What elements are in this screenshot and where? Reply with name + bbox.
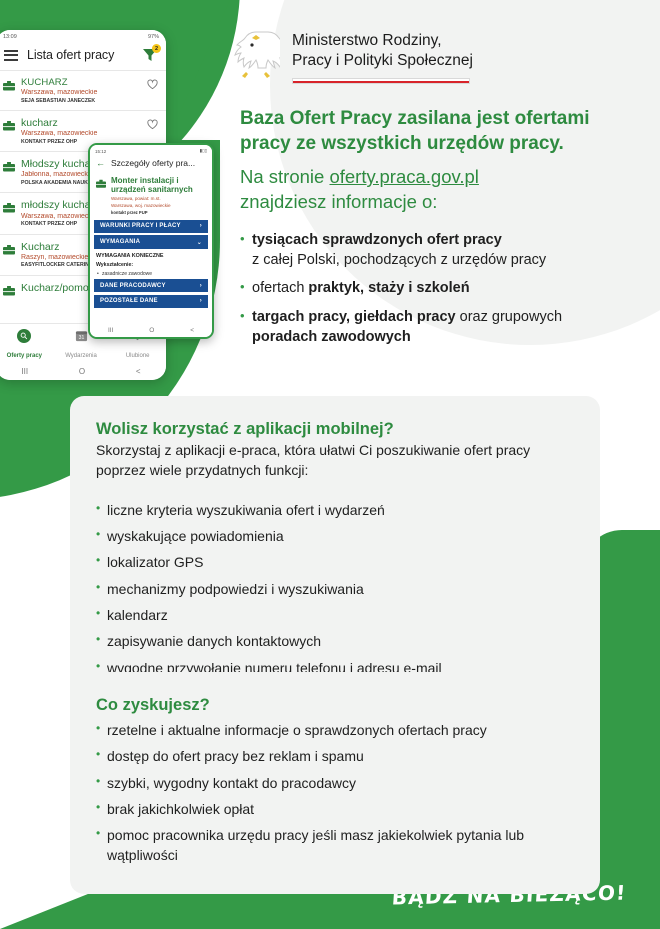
detail-app-bar: ← Szczegóły oferty pra... bbox=[90, 155, 212, 173]
intro-bullet-1-rest: z całej Polski, pochodzących z urzędów p… bbox=[252, 252, 546, 268]
offer-title: Monter instalacji i urządzeń sanitarnych bbox=[111, 176, 206, 194]
job-location: Warszawa, mazowieckie bbox=[21, 130, 141, 137]
intro-heading: Baza Ofert Pracy zasilana jest ofertami … bbox=[240, 106, 640, 156]
requirements-section-title: WYMAGANIA KONIECZNE bbox=[90, 249, 212, 259]
list-item: lokalizator GPS bbox=[96, 553, 574, 572]
accordion-label: WYMAGANIA bbox=[100, 239, 140, 245]
accordion-label: POZOSTAŁE DANE bbox=[100, 298, 158, 304]
mobile-feature-list: liczne kryteria wyszukiwania ofert i wyd… bbox=[96, 501, 574, 678]
accordion-dane-pracodawcy[interactable]: DANE PRACODAWCY › bbox=[94, 279, 208, 292]
accordion-label: WARUNKI PRACY I PŁACY bbox=[100, 223, 181, 229]
list-item: liczne kryteria wyszukiwania ofert i wyd… bbox=[96, 501, 574, 520]
intro-sub-suffix: znajdziesz informacje o: bbox=[240, 191, 437, 212]
intro-bullet-list: tysiącach sprawdzonych ofert pracy z cał… bbox=[240, 231, 640, 347]
briefcase-icon bbox=[3, 243, 15, 269]
list-item: rzetelne i aktualne informacje o sprawdz… bbox=[96, 721, 574, 740]
accordion-warunki-pracy-i-placy[interactable]: WARUNKI PRACY I PŁACY › bbox=[94, 220, 208, 233]
intro-bullet-2-bold: praktyk, staży i szkoleń bbox=[308, 280, 469, 296]
list-item: dostęp do ofert pracy bez reklam i spamu bbox=[96, 747, 574, 766]
home-button[interactable]: O bbox=[149, 327, 154, 334]
oferty-praca-gov-pl-link[interactable]: oferty.praca.gov.pl bbox=[329, 166, 478, 187]
back-arrow-icon[interactable]: ← bbox=[96, 158, 105, 168]
sidebar-item-label: Oferty pracy bbox=[7, 353, 42, 359]
phone-mockup-offer-detail: 15:12 ▮▯▯ ← Szczegóły oferty pra... Mont… bbox=[88, 143, 214, 339]
benefits-list: rzetelne i aktualne informacje o sprawdz… bbox=[96, 721, 574, 865]
intro-bullet-1: tysiącach sprawdzonych ofert pracy z cał… bbox=[240, 231, 640, 270]
intro-sub-prefix: Na stronie bbox=[240, 166, 329, 187]
app-bar: Lista ofert pracy 2 bbox=[0, 42, 166, 70]
heart-icon[interactable] bbox=[147, 77, 158, 104]
education-label: Wykształcenie: bbox=[90, 259, 212, 268]
ministry-name-line-2: Pracy i Polityki Społecznej bbox=[292, 51, 473, 71]
ministry-header: Ministerstwo Rodziny, Pracy i Polityki S… bbox=[232, 28, 473, 84]
phone-status-bar: 13:09 97% bbox=[0, 30, 166, 42]
list-item: mechanizmy podpowiedzi i wyszukiwania bbox=[96, 580, 574, 599]
android-system-bar: III O < bbox=[90, 323, 212, 337]
accordion-pozostale-dane[interactable]: POZOSTAŁE DANE › bbox=[94, 295, 208, 308]
ministry-name-line-1: Ministerstwo Rodziny, bbox=[292, 31, 473, 51]
intro-bullet-3-rest: poradach zawodowych bbox=[252, 329, 411, 345]
sidebar-item-label: Wydarzenia bbox=[65, 353, 97, 359]
recents-button[interactable]: III bbox=[21, 367, 28, 376]
status-bar-time: 13:09 bbox=[3, 34, 17, 40]
intro-bullet-3-bold: targach pracy, giełdach pracy bbox=[252, 309, 456, 325]
polish-flag-line bbox=[292, 78, 470, 84]
back-button[interactable]: < bbox=[136, 367, 141, 376]
hamburger-menu-icon[interactable] bbox=[4, 50, 18, 61]
status-bar-icons: ▮▯▯ bbox=[200, 148, 207, 154]
chevron-right-icon: › bbox=[200, 283, 202, 289]
list-item: kalendarz bbox=[96, 606, 574, 625]
sidebar-item-oferty-pracy[interactable]: Oferty pracy bbox=[0, 328, 53, 362]
offer-contact-note: kontakt przez PUP bbox=[111, 210, 206, 215]
briefcase-icon bbox=[96, 176, 106, 215]
offer-location-line-1: Warszawa, powiat: m.st. bbox=[111, 196, 206, 202]
job-location: Warszawa, mazowieckie bbox=[21, 89, 141, 96]
intro-subheading: Na stronie oferty.praca.gov.pl znajdzies… bbox=[240, 165, 640, 214]
briefcase-icon bbox=[3, 79, 15, 104]
status-bar-time: 15:12 bbox=[95, 149, 106, 154]
android-system-bar: III O < bbox=[0, 362, 166, 380]
intro-bullet-2-pre: ofertach bbox=[252, 280, 308, 296]
intro-block: Baza Ofert Pracy zasilana jest ofertami … bbox=[240, 106, 640, 356]
list-item: wyskakujące powiadomienia bbox=[96, 527, 574, 546]
accordion-wymagania[interactable]: WYMAGANIA ⌄ bbox=[94, 235, 208, 249]
filter-icon[interactable]: 2 bbox=[142, 47, 158, 63]
sidebar-item-label: Ulubione bbox=[126, 353, 150, 359]
calendar-icon: 31 bbox=[74, 328, 89, 343]
list-item: pomoc pracownika urzędu pracy jeśli masz… bbox=[96, 826, 574, 865]
chevron-down-icon: ⌄ bbox=[197, 239, 202, 246]
search-icon bbox=[17, 328, 32, 343]
intro-bullet-2: ofertach praktyk, staży i szkoleń bbox=[240, 279, 640, 299]
mobile-panel-heading: Wolisz korzystać z aplikacji mobilnej? bbox=[96, 420, 574, 439]
benefits-panel: Co zyskujesz? rzetelne i aktualne inform… bbox=[70, 672, 600, 894]
intro-bullet-3-mid: oraz grupowych bbox=[456, 309, 562, 325]
briefcase-icon bbox=[3, 119, 15, 145]
list-item: zapisywanie danych kontaktowych bbox=[96, 632, 574, 651]
polish-eagle-emblem-icon bbox=[232, 28, 280, 84]
accordion-label: DANE PRACODAWCY bbox=[100, 283, 166, 289]
briefcase-icon bbox=[3, 160, 15, 186]
mobile-panel-lead: Skorzystaj z aplikacji e-praca, która uł… bbox=[96, 441, 574, 481]
briefcase-icon bbox=[3, 201, 15, 227]
intro-bullet-1-bold: tysiącach sprawdzonych ofert pracy bbox=[252, 232, 502, 248]
offer-header: Monter instalacji i urządzeń sanitarnych… bbox=[90, 173, 212, 217]
svg-text:31: 31 bbox=[78, 335, 84, 341]
table-row[interactable]: KUCHARZ Warszawa, mazowieckie SEJA SEBAS… bbox=[0, 70, 166, 110]
recents-button[interactable]: III bbox=[108, 327, 113, 334]
back-button[interactable]: < bbox=[190, 327, 194, 334]
benefits-panel-heading: Co zyskujesz? bbox=[96, 696, 574, 715]
briefcase-icon bbox=[3, 284, 15, 302]
mobile-app-panel: Wolisz korzystać z aplikacji mobilnej? S… bbox=[70, 396, 600, 707]
job-title: KUCHARZ bbox=[21, 77, 141, 88]
intro-bullet-3: targach pracy, giełdach pracy oraz grupo… bbox=[240, 308, 640, 347]
job-title: kucharz bbox=[21, 117, 141, 129]
chevron-right-icon: › bbox=[200, 298, 202, 304]
job-employer: SEJA SEBASTIAN JANECZEK bbox=[21, 98, 141, 105]
offer-location-line-2: Warszawa, woj. mazowieckie bbox=[111, 203, 206, 209]
list-item: szybki, wygodny kontakt do pracodawcy bbox=[96, 774, 574, 793]
status-bar-battery: 97% bbox=[148, 34, 159, 40]
app-bar-title: Lista ofert pracy bbox=[27, 48, 133, 62]
filter-badge-count: 2 bbox=[152, 44, 161, 53]
list-item: brak jakichkolwiek opłat bbox=[96, 800, 574, 819]
phone-detail-status-bar: 15:12 ▮▯▯ bbox=[90, 145, 212, 155]
detail-title: Szczegóły oferty pra... bbox=[111, 158, 195, 168]
home-button[interactable]: O bbox=[79, 367, 85, 376]
heart-icon[interactable] bbox=[147, 117, 158, 145]
chevron-right-icon: › bbox=[200, 223, 202, 229]
education-value: zasadnicze zawodowe bbox=[90, 268, 212, 277]
